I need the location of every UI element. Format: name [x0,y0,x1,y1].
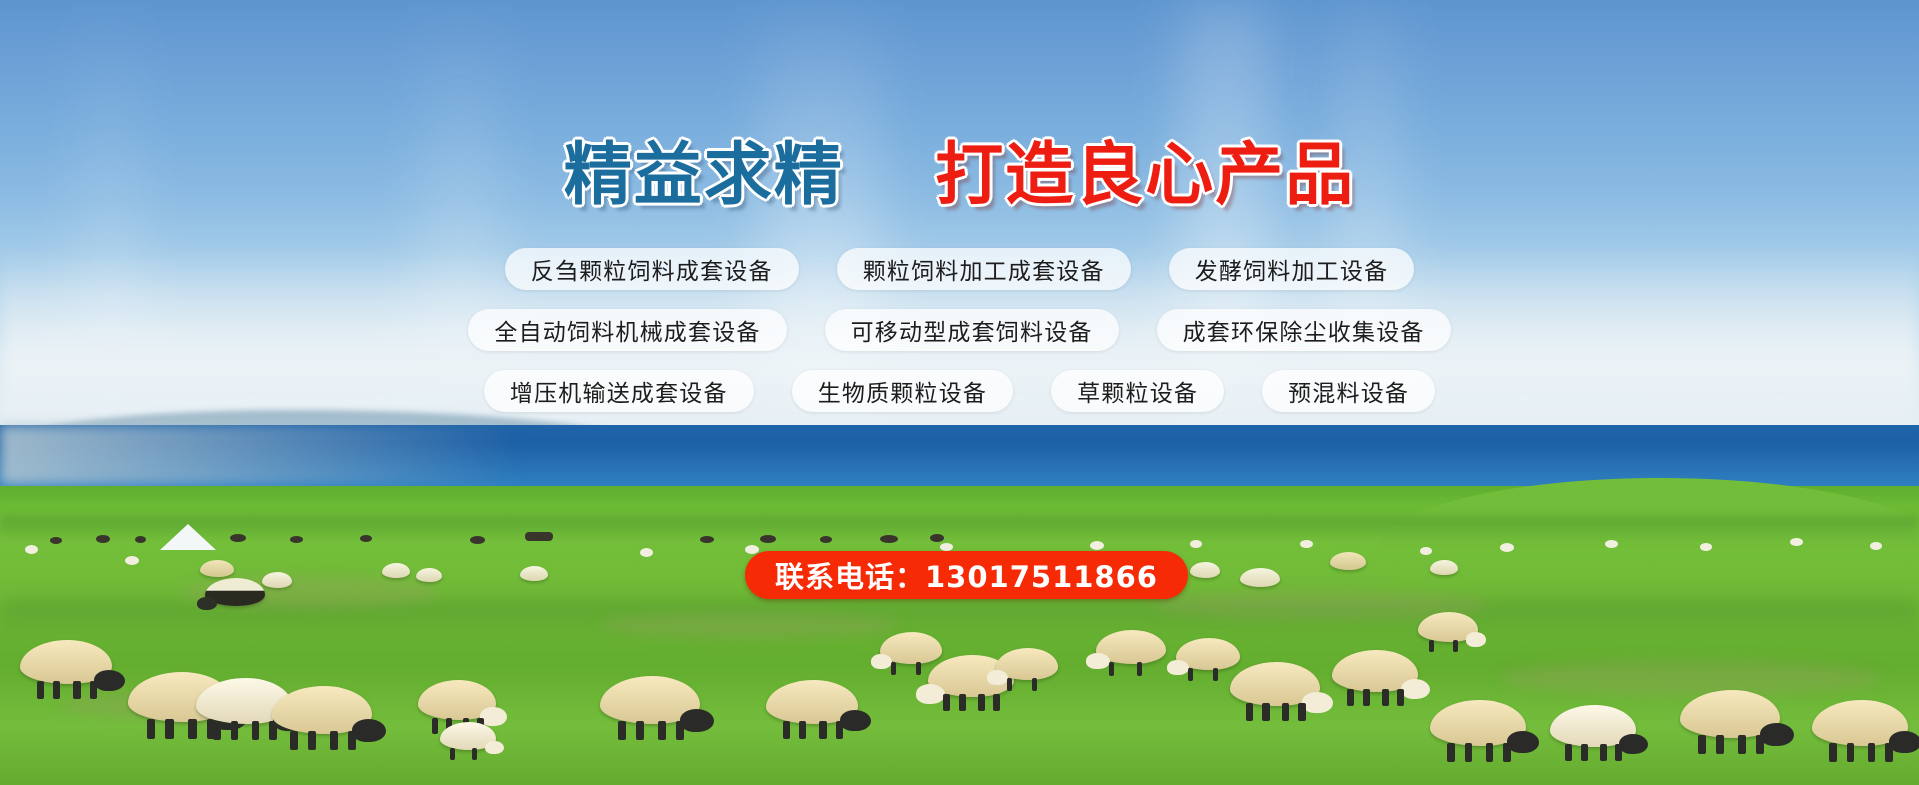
distant-animal [135,536,146,543]
sheep [1332,650,1418,692]
headline-blue-text: 精益求精 [564,142,844,210]
distant-animal [290,536,303,543]
sheep [1550,705,1636,747]
sheep [1096,630,1166,664]
product-pill-row-3: 增压机输送成套设备 生物质颗粒设备 草颗粒设备 预混料设备 [0,370,1919,412]
pill-grass-pellet-equipment[interactable]: 草颗粒设备 [1051,370,1224,412]
sheep [1240,568,1280,587]
distant-sheep [1420,547,1432,555]
pill-automatic-feed-machinery-complete-equipment[interactable]: 全自动饲料机械成套设备 [468,309,786,351]
lamb [440,722,496,750]
dirt-patch [600,612,900,638]
sheep [1330,552,1366,570]
distant-animal [700,536,714,543]
product-pill-row-1: 反刍颗粒饲料成套设备 颗粒饲料加工成套设备 发酵饲料加工设备 [0,248,1919,290]
sheep [1430,560,1458,575]
pill-premix-equipment[interactable]: 预混料设备 [1262,370,1435,412]
distant-sheep [1090,541,1104,550]
lake-haze [0,425,520,485]
distant-sheep [940,543,953,551]
sheep [200,560,234,577]
product-pill-group: 反刍颗粒饲料成套设备 颗粒饲料加工成套设备 发酵饲料加工设备 全自动饲料机械成套… [0,248,1919,431]
pill-fermented-feed-processing-equipment[interactable]: 发酵饲料加工设备 [1169,248,1415,290]
sheep [1418,612,1478,642]
distant-animal [760,535,776,543]
pill-pellet-feed-processing-complete-equipment[interactable]: 颗粒饲料加工成套设备 [837,248,1131,290]
sheep [766,680,858,724]
distant-sheep [1790,538,1803,546]
sheep [20,640,112,684]
distant-sheep [25,545,38,554]
distant-animal [880,535,898,543]
sheep [1812,700,1908,746]
distant-animal [525,532,553,541]
distant-sheep [1700,543,1712,551]
distant-sheep [1300,540,1313,548]
distant-animal [96,535,110,543]
distant-animal [360,535,372,542]
distant-animal [820,536,832,543]
pill-biomass-pellet-equipment[interactable]: 生物质颗粒设备 [792,370,1013,412]
sheep [996,648,1058,680]
contact-phone-banner[interactable]: 联系电话：13017511866 [745,551,1188,599]
sheep [205,578,265,606]
sheep [262,572,292,588]
sheep [1190,562,1220,578]
distant-sheep [1500,543,1514,552]
distant-sheep [640,548,653,557]
sheep [382,563,410,578]
distant-sheep [1870,542,1882,550]
distant-sheep [1190,540,1202,548]
pill-complete-environmental-dust-collection-equipment[interactable]: 成套环保除尘收集设备 [1157,309,1451,351]
distant-sheep [1605,540,1618,548]
distant-sheep [745,545,759,554]
distant-animal [230,534,246,542]
product-pill-row-2: 全自动饲料机械成套设备 可移动型成套饲料设备 成套环保除尘收集设备 [0,309,1919,351]
pill-booster-conveying-complete-equipment[interactable]: 增压机输送成套设备 [484,370,754,412]
sheep [1680,690,1780,738]
pill-ruminant-pellet-feed-complete-equipment[interactable]: 反刍颗粒饲料成套设备 [505,248,799,290]
sheep [416,568,442,582]
hero-banner: 精益求精 打造良心产品 反刍颗粒饲料成套设备 颗粒饲料加工成套设备 发酵饲料加工… [0,0,1919,785]
distant-animal [930,534,944,542]
pill-mobile-complete-feed-equipment[interactable]: 可移动型成套饲料设备 [825,309,1119,351]
distant-animal [470,536,485,544]
distant-animal [50,537,62,544]
sheep [272,686,372,734]
sheep [600,676,700,724]
headline: 精益求精 打造良心产品 [0,142,1919,210]
sheep [520,566,548,581]
sheep [1430,700,1526,746]
sheep [418,680,496,720]
headline-red-text: 打造良心产品 [935,142,1355,210]
sheep [1230,662,1320,706]
grass-ridge [0,516,1919,542]
distant-sheep [125,556,139,565]
